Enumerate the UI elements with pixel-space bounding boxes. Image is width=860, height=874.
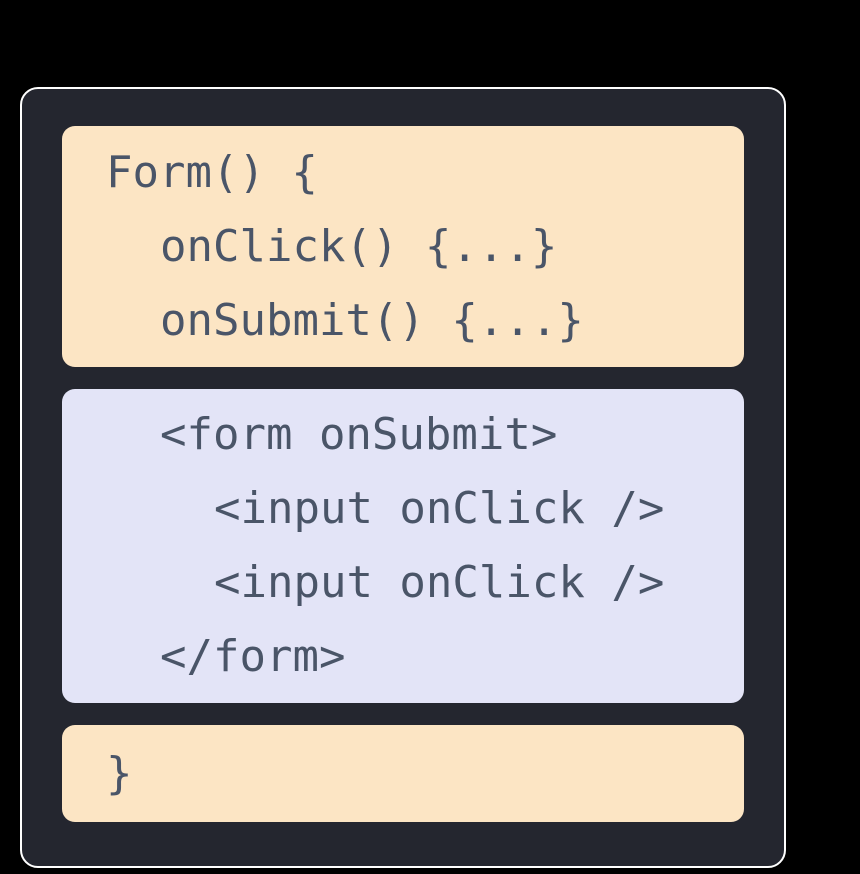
component-card: Form() { onClick() {...} onSubmit() {...… (20, 87, 786, 868)
code-line: onClick() {...} (62, 210, 744, 284)
code-line: onSubmit() {...} (62, 284, 744, 358)
code-line: } (62, 737, 744, 811)
jsx-markup-block: <form onSubmit> <input onClick /> <input… (62, 389, 744, 703)
code-line: <form onSubmit> (62, 398, 744, 472)
component-function-block: Form() { onClick() {...} onSubmit() {...… (62, 126, 744, 367)
code-line: <input onClick /> (62, 472, 744, 546)
code-line: <input onClick /> (62, 546, 744, 620)
code-line: </form> (62, 620, 744, 694)
code-line: Form() { (62, 136, 744, 210)
diagram-canvas: Form() { onClick() {...} onSubmit() {...… (0, 0, 860, 874)
component-close-block: } (62, 725, 744, 822)
